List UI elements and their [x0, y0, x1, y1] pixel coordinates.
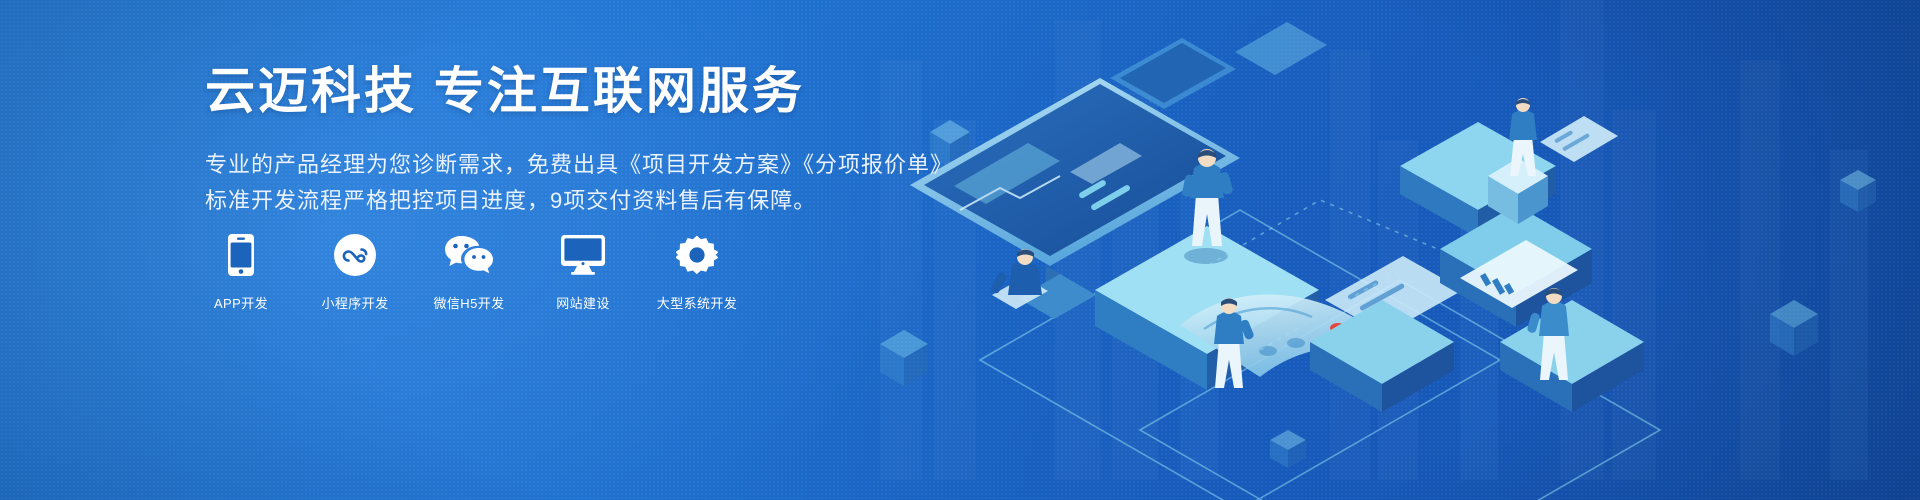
service-label: 微信H5开发	[433, 293, 504, 312]
service-item-app[interactable]: APP开发	[203, 232, 279, 312]
service-label: 小程序开发	[321, 293, 388, 312]
service-item-website[interactable]: 网站建设	[545, 232, 621, 312]
banner-content: 云迈科技 专注互联网服务 专业的产品经理为您诊断需求，免费出具《项目开发方案》《…	[205, 62, 965, 218]
service-label: 网站建设	[556, 293, 610, 312]
service-item-miniprogram[interactable]: 小程序开发	[317, 232, 393, 312]
hero-banner: 云迈科技 专注互联网服务 专业的产品经理为您诊断需求，免费出具《项目开发方案》《…	[0, 0, 1920, 500]
service-label: APP开发	[214, 293, 268, 312]
subtitle-line-1: 专业的产品经理为您诊断需求，免费出具《项目开发方案》《分项报价单》	[205, 152, 953, 177]
service-item-system[interactable]: 大型系统开发	[659, 232, 735, 312]
subtitle-line-2: 标准开发流程严格把控项目进度，9项交付资料售后有保障。	[205, 183, 965, 219]
banner-subtitle: 专业的产品经理为您诊断需求，免费出具《项目开发方案》《分项报价单》 标准开发流程…	[205, 147, 965, 218]
illustration	[840, 0, 1920, 500]
mobile-phone-icon	[228, 232, 254, 278]
service-label: 大型系统开发	[657, 293, 737, 312]
service-list: APP开发 小程序开发	[203, 232, 735, 312]
service-item-wechat[interactable]: 微信H5开发	[431, 232, 507, 312]
monitor-icon	[561, 232, 605, 278]
page-title: 云迈科技 专注互联网服务	[205, 62, 965, 121]
mini-program-icon	[334, 232, 376, 278]
wechat-icon	[444, 232, 494, 278]
gear-icon	[676, 232, 718, 278]
